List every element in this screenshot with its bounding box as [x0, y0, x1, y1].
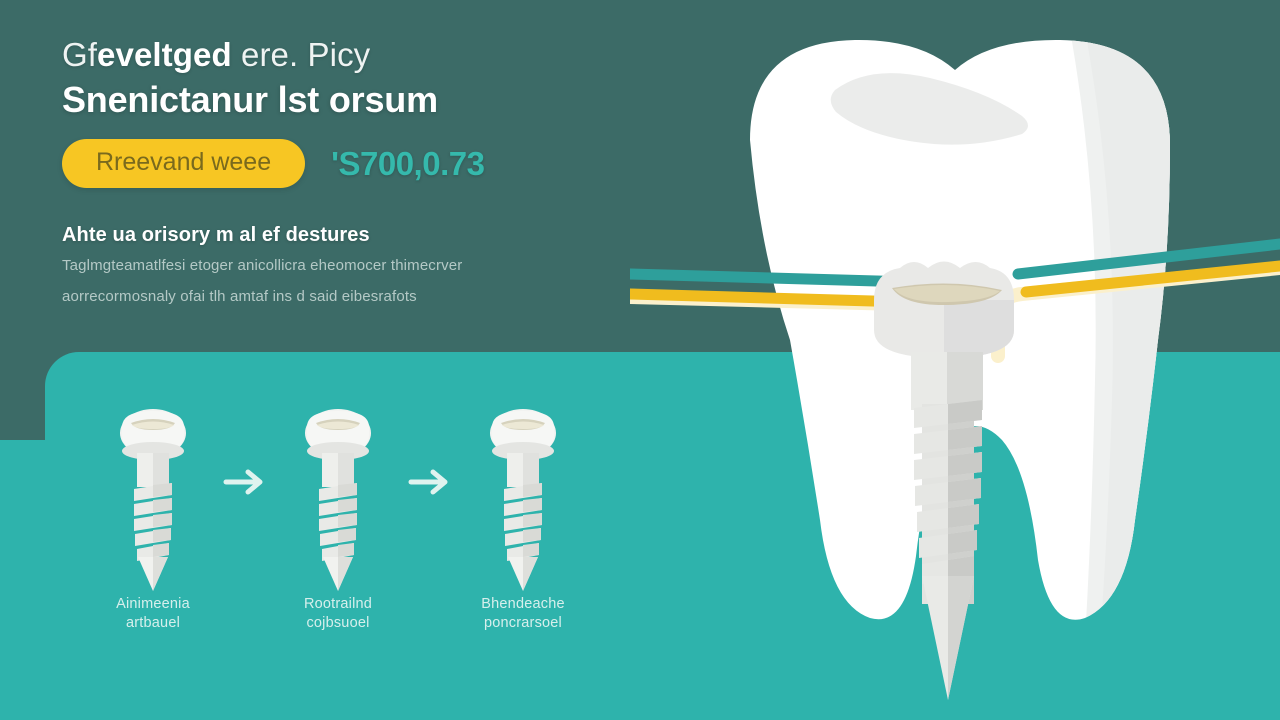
- step-label-2: Rootrailnd cojbsuoel: [304, 595, 372, 633]
- step-item-2: Rootrailnd cojbsuoel: [273, 405, 403, 633]
- screw-icon: [293, 405, 383, 595]
- badge-price-row: Rreevand weee 'S700,0.73: [62, 139, 622, 188]
- step-item-1: Ainimeenia artbauel: [88, 405, 218, 633]
- dental-implant-tooth-illustration: [630, 0, 1280, 720]
- eyebrow-part-2: ere. Picy: [232, 36, 371, 73]
- step-label-1: Ainimeenia artbauel: [116, 595, 190, 633]
- body-heading: Ahte ua orisory m al ef destures: [62, 224, 622, 247]
- eyebrow-part-1: Gf: [62, 36, 97, 73]
- step-item-3: Bhendeache poncrarsoel: [458, 405, 588, 633]
- step-label-3: Bhendeache poncrarsoel: [481, 595, 564, 633]
- body-paragraph-line-2: aorrecormosnaly ofai tlh amtaf ins d sai…: [62, 285, 622, 308]
- screw-icon: [478, 405, 568, 595]
- eyebrow-text: Gfeveltged ere. Picy: [62, 34, 622, 76]
- body-paragraph-line-1: Taglmgteamatlfesi etoger anicollicra ehe…: [62, 254, 622, 277]
- price-text: 'S700,0.73: [331, 145, 484, 183]
- body-block: Ahte ua orisory m al ef destures Taglmgt…: [62, 224, 622, 308]
- process-steps: Ainimeenia artbauel: [88, 405, 608, 660]
- text-column: Gfeveltged ere. Picy Snenictanur lst ors…: [62, 34, 622, 308]
- crown-icon: [874, 262, 1014, 359]
- infographic-canvas: Gfeveltged ere. Picy Snenictanur lst ors…: [0, 0, 1280, 720]
- eyebrow-part-bold: eveltged: [97, 36, 232, 73]
- arrow-right-icon: [403, 387, 458, 577]
- page-title: Snenictanur lst orsum: [62, 78, 622, 121]
- arrow-right-icon: [218, 387, 273, 577]
- screw-icon: [108, 405, 198, 595]
- screw-icon: [914, 400, 982, 700]
- status-badge[interactable]: Rreevand weee: [62, 139, 305, 188]
